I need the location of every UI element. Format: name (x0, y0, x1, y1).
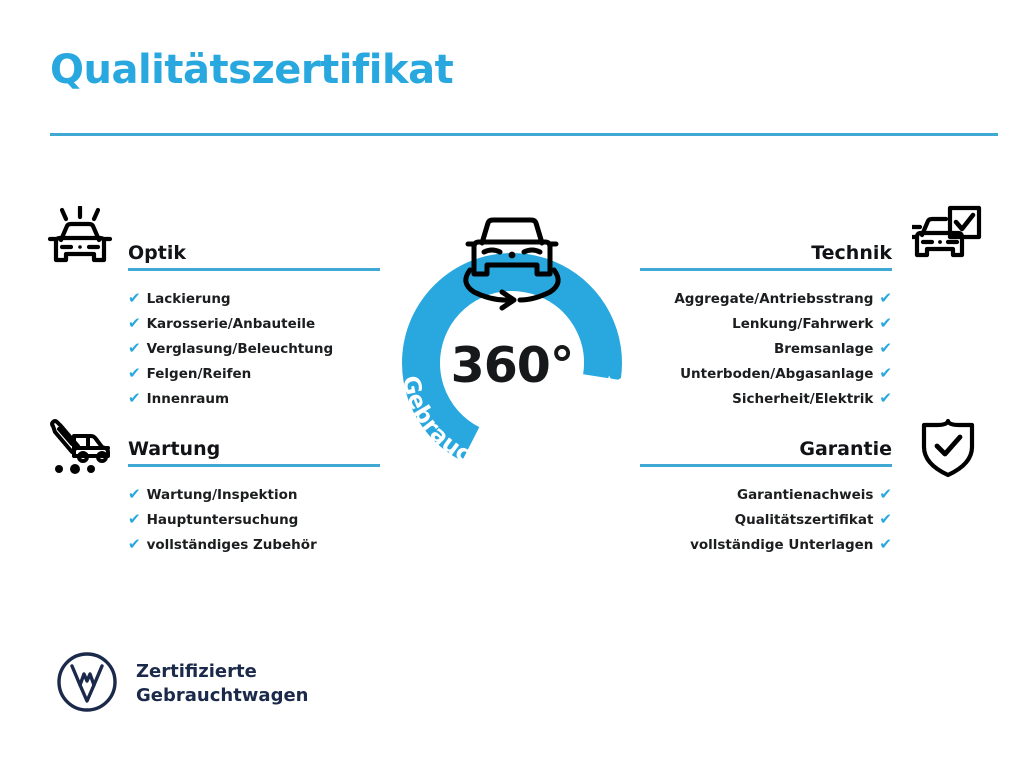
section-technik-title: Technik (640, 240, 892, 266)
list-item-label: vollständiges Zubehör (147, 533, 317, 557)
list-item: ✔ Lackierung (128, 286, 380, 311)
check-icon: ✔ (879, 386, 892, 410)
list-item: Garantienachweis ✔ (640, 482, 892, 507)
section-optik-title: Optik (128, 240, 380, 266)
section-garantie-list: Garantienachweis ✔ Qualitätszertifikat ✔… (640, 482, 892, 557)
list-item: ✔ Hauptuntersuchung (128, 507, 380, 532)
list-item-label: Wartung/Inspektion (147, 483, 298, 507)
section-technik-header: Technik (640, 240, 892, 274)
list-item-label: Qualitätszertifikat (735, 508, 874, 532)
check-icon: ✔ (879, 361, 892, 385)
check-icon: ✔ (128, 311, 141, 335)
section-garantie-divider (640, 464, 892, 467)
section-technik-list: Aggregate/Antriebsstrang ✔ Lenkung/Fahrw… (640, 286, 892, 411)
check-icon: ✔ (879, 532, 892, 556)
list-item-label: Aggregate/Antriebsstrang (674, 287, 873, 311)
list-item-label: Felgen/Reifen (147, 362, 252, 386)
check-icon: ✔ (128, 507, 141, 531)
list-item: Unterboden/Abgasanlage ✔ (640, 361, 892, 386)
section-wartung-header: Wartung (128, 436, 380, 470)
check-icon: ✔ (879, 286, 892, 310)
check-icon: ✔ (128, 286, 141, 310)
list-item-label: Unterboden/Abgasanlage (680, 362, 873, 386)
brand-line-2: Gebrauchtwagen (136, 684, 308, 708)
check-icon: ✔ (128, 532, 141, 556)
list-item-label: Bremsanlage (774, 337, 873, 361)
list-item: ✔ Verglasung/Beleuchtung (128, 336, 380, 361)
car-shine-icon (47, 206, 113, 272)
list-item-label: Sicherheit/Elektrik (732, 387, 873, 411)
section-optik-divider (128, 268, 380, 271)
section-garantie-header: Garantie (640, 436, 892, 470)
vw-brand-lockup: Zertifizierte Gebrauchtwagen (56, 651, 308, 717)
list-item: Bremsanlage ✔ (640, 336, 892, 361)
car-checkbox-icon (912, 205, 982, 271)
check-icon: ✔ (879, 336, 892, 360)
check-icon: ✔ (128, 361, 141, 385)
section-technik: Technik Aggregate/Antriebsstrang ✔ Lenku… (640, 240, 892, 411)
vw-brand-text: Zertifizierte Gebrauchtwagen (136, 660, 308, 708)
list-item: vollständige Unterlagen ✔ (640, 532, 892, 557)
list-item-label: Verglasung/Beleuchtung (147, 337, 334, 361)
list-item-label: Karosserie/Anbauteile (147, 312, 316, 336)
shield-check-icon (919, 417, 977, 483)
check-icon: ✔ (128, 482, 141, 506)
list-item-label: Hauptuntersuchung (147, 508, 299, 532)
list-item-label: Garantienachweis (737, 483, 873, 507)
list-item-label: vollständige Unterlagen (690, 533, 873, 557)
check-icon: ✔ (879, 507, 892, 531)
check-icon: ✔ (128, 386, 141, 410)
page-title: Qualitätszertifikat (50, 48, 453, 92)
brand-line-1: Zertifizierte (136, 660, 308, 684)
list-item: ✔ Karosserie/Anbauteile (128, 311, 380, 336)
section-optik: Optik ✔ Lackierung ✔ Karosserie/Anbautei… (128, 240, 380, 411)
list-item: ✔ vollständiges Zubehör (128, 532, 380, 557)
section-garantie: Garantie Garantienachweis ✔ Qualitätszer… (640, 436, 892, 557)
section-technik-divider (640, 268, 892, 271)
car-lift-service-icon (47, 418, 113, 484)
section-optik-list: ✔ Lackierung ✔ Karosserie/Anbauteile ✔ V… (128, 286, 380, 411)
title-divider (50, 133, 998, 136)
certificate-page: Qualitätszertifikat Optik (0, 0, 1024, 768)
list-item: Lenkung/Fahrwerk ✔ (640, 311, 892, 336)
list-item: Sicherheit/Elektrik ✔ (640, 386, 892, 411)
list-item: ✔ Felgen/Reifen (128, 361, 380, 386)
360-check-badge: Gebrauchtwagen-Check 360° (374, 195, 650, 495)
vw-roundel-icon (56, 651, 118, 717)
check-icon: ✔ (879, 311, 892, 335)
section-wartung-divider (128, 464, 380, 467)
section-garantie-title: Garantie (640, 436, 892, 462)
section-wartung-title: Wartung (128, 436, 380, 462)
list-item: Qualitätszertifikat ✔ (640, 507, 892, 532)
section-optik-header: Optik (128, 240, 380, 274)
list-item-label: Lackierung (147, 287, 231, 311)
list-item: ✔ Wartung/Inspektion (128, 482, 380, 507)
check-icon: ✔ (128, 336, 141, 360)
section-wartung-list: ✔ Wartung/Inspektion ✔ Hauptuntersuchung… (128, 482, 380, 557)
badge-center-label: 360° (374, 337, 650, 394)
list-item-label: Innenraum (147, 387, 229, 411)
list-item: Aggregate/Antriebsstrang ✔ (640, 286, 892, 311)
section-wartung: Wartung ✔ Wartung/Inspektion ✔ Hauptunte… (128, 436, 380, 557)
list-item-label: Lenkung/Fahrwerk (732, 312, 873, 336)
check-icon: ✔ (879, 482, 892, 506)
list-item: ✔ Innenraum (128, 386, 380, 411)
